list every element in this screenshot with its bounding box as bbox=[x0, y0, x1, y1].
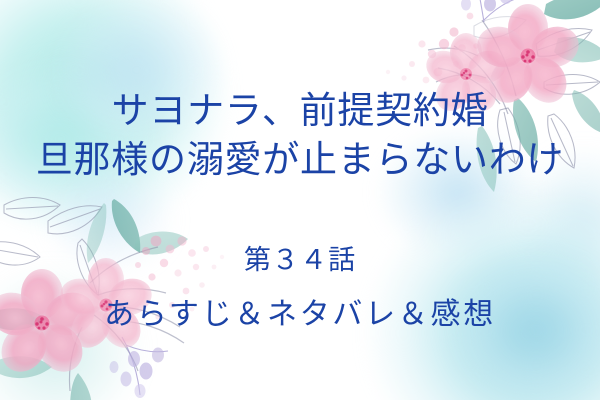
purple-sprig bbox=[110, 337, 169, 398]
watercolor-wash-bottom-right-secondary bbox=[410, 230, 600, 400]
teal-leaf bbox=[477, 0, 600, 192]
subtitle: あらすじ＆ネタバレ＆感想 bbox=[104, 289, 496, 333]
purple-sprig bbox=[461, 0, 524, 22]
cherry-blossom bbox=[472, 4, 584, 111]
teal-leaf bbox=[0, 199, 188, 400]
floral-cluster-bottom-left bbox=[0, 195, 241, 400]
text-layer: サヨナラ、前提契約婚 旦那様の溺愛が止まらないわけ 第３４話 あらすじ＆ネタバレ… bbox=[0, 0, 600, 400]
floral-cluster-top-right bbox=[358, 0, 600, 201]
floral-stem bbox=[70, 247, 185, 391]
cherry-blossom bbox=[56, 258, 157, 355]
title-line-1: サヨナラ、前提契約婚 bbox=[36, 88, 564, 137]
watercolor-wash-bottom-left bbox=[0, 240, 170, 400]
watercolor-wash-bottom-left-blue bbox=[20, 145, 200, 295]
watercolor-wash-top-left bbox=[0, 0, 260, 240]
title-line-2: 旦那様の溺愛が止まらないわけ bbox=[36, 137, 564, 186]
lineart-leaf bbox=[0, 198, 102, 296]
lineart-leaf bbox=[474, 17, 600, 168]
episode-number: 第３４話 bbox=[244, 238, 356, 277]
watercolor-wash-bottom-right bbox=[330, 170, 600, 400]
watercolor-wash-top-left-blue bbox=[10, 0, 240, 160]
cherry-blossom bbox=[0, 269, 100, 381]
watercolor-wash-right-edge bbox=[470, 120, 600, 320]
cherry-blossom bbox=[422, 33, 510, 118]
page-title: サヨナラ、前提契約婚 旦那様の溺愛が止まらないわけ bbox=[36, 88, 564, 186]
floral-stem bbox=[428, 20, 516, 114]
pink-bud-sprig bbox=[135, 236, 224, 320]
pink-bud-sprig bbox=[386, 13, 493, 84]
watercolor-wash-top-left-secondary bbox=[0, 40, 210, 260]
banner-canvas: サヨナラ、前提契約婚 旦那様の溺愛が止まらないわけ 第３４話 あらすじ＆ネタバレ… bbox=[0, 0, 600, 400]
watercolor-wash-title-accent bbox=[350, 105, 565, 280]
